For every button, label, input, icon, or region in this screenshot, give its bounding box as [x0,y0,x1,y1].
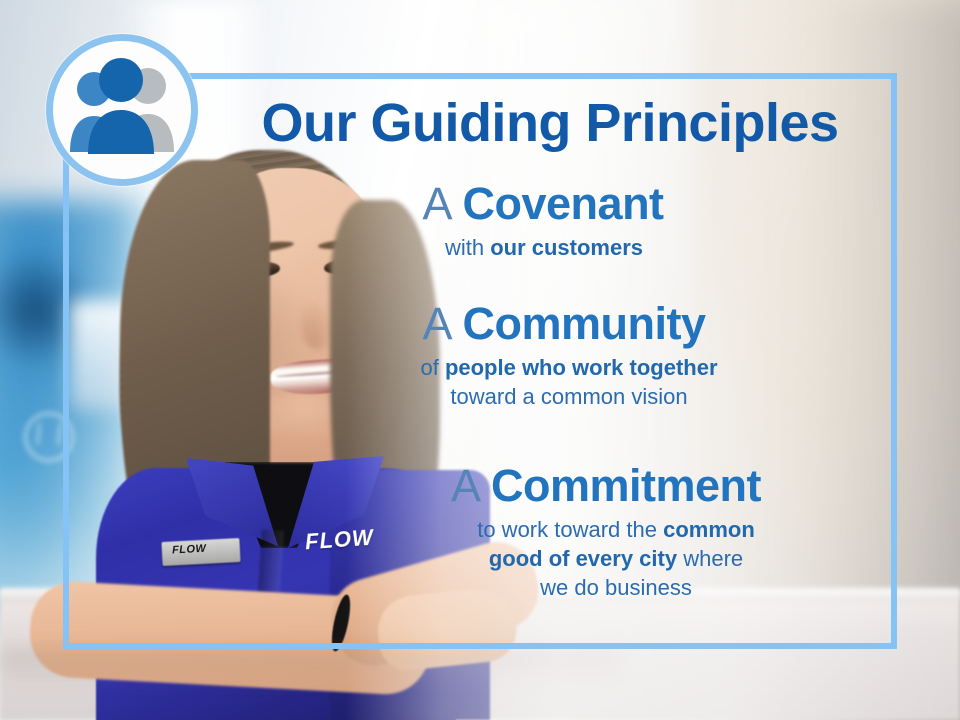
principle-covenant-keyword: Covenant [463,178,664,229]
principle-covenant-subline-0: with our customers [208,233,880,262]
principle-community-article: A [422,298,450,349]
principle-community-keyword: Community [463,298,706,349]
principle-commitment-subline-0: to work toward the common [347,515,885,544]
banner-canvas: FLOW FLOW Our Guiding Principles A Coven… [0,0,960,720]
principle-commitment-subline-2: we do business [347,573,885,602]
page-title: Our Guiding Principles [214,96,886,150]
principle-community: A Community of people who work together … [205,300,885,411]
blurred-dealer-logo [24,412,74,462]
principle-commitment-keyword: Commitment [491,460,761,511]
principle-commitment-subtext: to work toward the common good of every … [205,515,885,602]
principle-community-subline-1: toward a common vision [253,382,885,411]
principle-covenant: A Covenant with our customers [200,180,880,262]
principle-commitment-subline-1: good of every city where [347,544,885,573]
principle-covenant-subtext: with our customers [200,233,880,262]
principle-commitment: A Commitment to work toward the common g… [205,462,885,602]
principle-community-subtext: of people who work together toward a com… [205,353,885,411]
principle-community-subline-0: of people who work together [253,353,885,382]
people-group-icon [60,56,184,166]
desk-contact-shadow [0,648,620,688]
principle-covenant-heading: A Covenant [200,180,880,227]
principle-covenant-article: A [422,178,450,229]
principle-commitment-heading: A Commitment [205,462,885,509]
principle-commitment-article: A [451,460,479,511]
principle-community-heading: A Community [205,300,885,347]
